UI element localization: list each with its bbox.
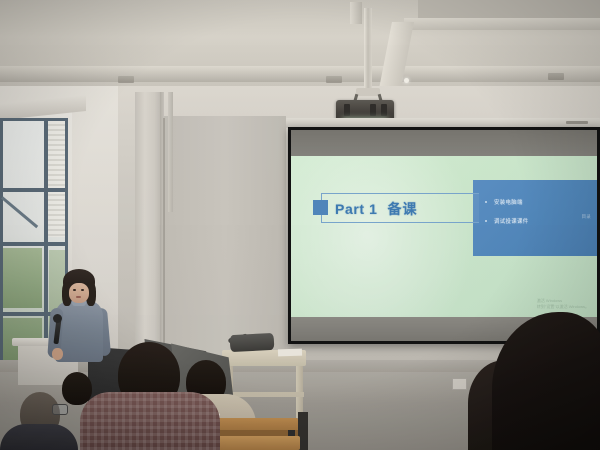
presenter-eye	[81, 289, 84, 291]
ceiling-light-icon	[404, 78, 409, 83]
windows-activation-watermark: 激活 Windows 转到"设置"以激活 Windows。	[537, 298, 589, 310]
slide-square-marker-icon	[313, 200, 328, 215]
slide-bullet-list: 安装电脑端 调试投课课件	[485, 198, 593, 236]
ceiling-vent-icon	[118, 76, 134, 83]
projector-pole	[364, 8, 372, 90]
attendee-body	[0, 424, 78, 450]
slide-bullet-label: 调试投课课件	[494, 217, 528, 225]
presenter-eye	[73, 289, 76, 291]
bullet-dot-icon	[485, 220, 487, 222]
shoulder-bag	[230, 333, 275, 352]
window-mullion	[0, 242, 68, 246]
slide-blue-panel: 安装电脑端 调试投课课件 目录	[473, 180, 597, 256]
glasses-icon	[52, 404, 68, 415]
window-blind	[48, 121, 65, 237]
watermark-line-2: 转到"设置"以激活 Windows。	[537, 304, 589, 310]
wall-outlet-icon	[452, 378, 467, 390]
list-item: 调试投课课件	[485, 217, 593, 225]
slide-bullet-label: 安装电脑端	[494, 198, 523, 206]
ceiling-beam-cross	[404, 18, 600, 30]
projector-knob	[381, 104, 387, 116]
projector-knob	[370, 104, 376, 116]
attendee-body	[80, 392, 220, 450]
projector-glow	[291, 156, 475, 317]
slide-title-cjk: 备课	[388, 201, 418, 217]
projection-screen-surface: 安装电脑端 调试投课课件 目录 Part 1备课 激活 Windows 转到"设…	[291, 130, 597, 341]
slide-title: Part 1备课	[335, 199, 418, 219]
concrete-pillar	[135, 92, 163, 364]
projector-pole-top	[350, 2, 362, 24]
ceiling-beam-main	[0, 66, 600, 82]
slide-title-latin: Part 1	[335, 201, 378, 217]
microphone-head-icon	[53, 314, 62, 323]
classroom-photo: 安装电脑端 调试投课课件 目录 Part 1备课 激活 Windows 转到"设…	[0, 0, 600, 450]
ceiling-recess	[418, 0, 600, 20]
presentation-slide: 安装电脑端 调试投课课件 目录 Part 1备课 激活 Windows 转到"设…	[291, 156, 597, 317]
ceiling-vent-icon	[326, 76, 342, 83]
screen-band-top	[291, 130, 597, 156]
screen-housing-label	[566, 121, 588, 124]
presenter-mouth	[76, 296, 81, 298]
window-foliage	[3, 248, 42, 308]
wall-conduit-pipe	[168, 92, 173, 212]
window-mullion	[0, 188, 68, 192]
presenter-face	[69, 283, 89, 303]
projector-knob	[344, 104, 350, 116]
presenter-hand	[52, 348, 63, 360]
list-item: 安装电脑端	[485, 198, 593, 206]
pillar-seam	[163, 118, 165, 364]
back-wall-shadow	[164, 116, 286, 366]
window-mullion	[44, 118, 48, 374]
slide-side-note: 目录	[582, 214, 591, 220]
bullet-dot-icon	[485, 201, 487, 203]
ceiling-vent-icon	[548, 73, 564, 80]
paper-sheet	[278, 349, 302, 357]
